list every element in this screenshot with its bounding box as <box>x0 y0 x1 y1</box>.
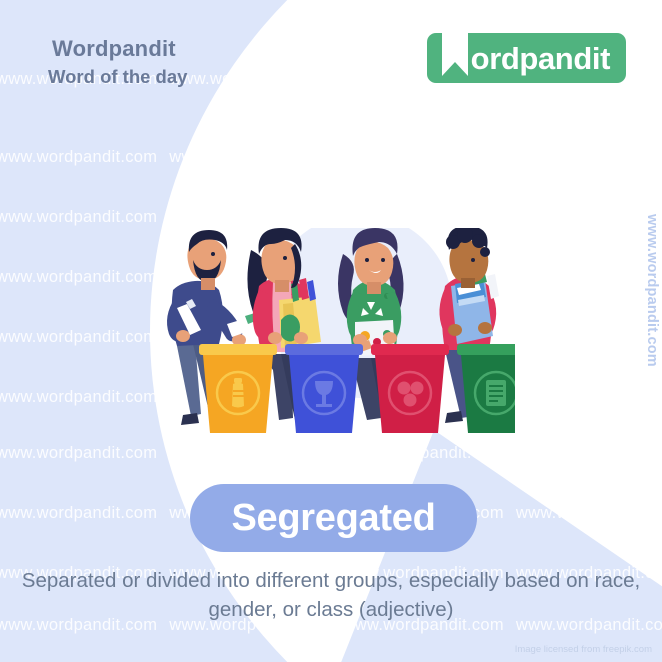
page-title: Wordpandit <box>52 36 187 62</box>
word-badge: Segregated <box>190 484 477 552</box>
image-credit: Image licensed from freepik.com <box>515 644 652 655</box>
illustration-people-sorting-recycling <box>155 228 515 443</box>
watermark-vertical: www.wordpandit.com <box>644 214 660 367</box>
bin-glass-blue <box>285 344 363 433</box>
brand-block: Wordpandit Word of the day <box>48 36 187 88</box>
bin-plastic-orange <box>199 344 277 433</box>
wordpandit-logo[interactable]: ordpandit <box>427 33 626 83</box>
word-definition: Separated or divided into different grou… <box>14 566 648 624</box>
word-term: Segregated <box>232 497 436 540</box>
bookmark-w-icon <box>442 24 468 76</box>
bin-paper-green <box>457 344 515 433</box>
logo-text: ordpandit <box>471 43 610 74</box>
word-of-the-day-card: www.wordpandit.comwww.wordpandit.comwww.… <box>0 0 662 662</box>
page-subtitle: Word of the day <box>48 66 187 88</box>
bin-organic-red <box>371 344 449 433</box>
